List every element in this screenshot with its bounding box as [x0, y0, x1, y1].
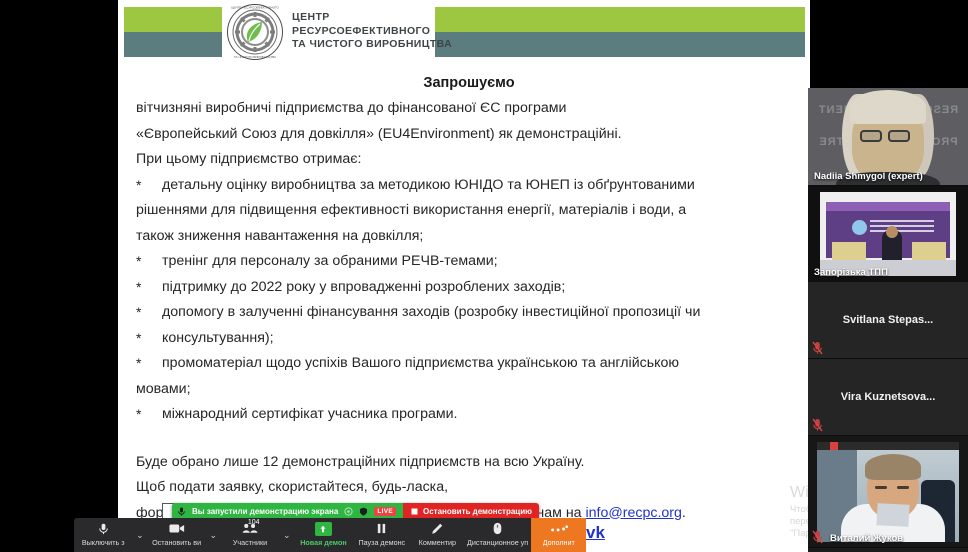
slide-title: Запрошуємо [136, 72, 802, 94]
bullet-text: промоматеріал щодо успіхів Вашого підпри… [162, 355, 679, 371]
bullet-marker: * [136, 351, 162, 377]
stage-banner-text [870, 220, 934, 234]
microphone-icon [98, 521, 109, 536]
toolbar-label-annotate: Комментир [419, 538, 456, 547]
participant-tile[interactable]: Vira Kuznetsova... [808, 359, 968, 436]
participants-count-badge: 104 [248, 519, 260, 526]
chevron-up-icon-video[interactable]: ⌄ [206, 518, 221, 552]
avatar-hair-top [850, 90, 926, 124]
participant-tile[interactable]: RESOURCE EFFICIENT AND CLEANER PRODUCTIO… [808, 88, 968, 186]
microphone-muted-icon [812, 341, 823, 355]
bullet-item: *консультування); [136, 326, 802, 352]
brand-line-1: ЦЕНТР [292, 11, 330, 23]
slide-paragraph: При цьому підприємство отримає: [136, 147, 802, 173]
bullet-marker: * [136, 402, 162, 428]
bullet-text: детальну оцінку виробництва за методикою… [162, 177, 695, 193]
closing-line: Щоб подати заявку, скористайтеся, будь-л… [136, 475, 802, 501]
tile-top-bar [817, 442, 959, 450]
stage-speaker-face [886, 226, 898, 238]
bullet-text: допомогу в залученні фінансування заході… [162, 304, 700, 320]
microphone-muted-icon [812, 418, 823, 432]
bullet-item: *підтримку до 2022 року у впровадженні р… [136, 275, 802, 301]
slide-paragraph: «Європейський Союз для довкілля» (EU4Env… [136, 122, 802, 148]
closing-line: Буде обрано лише 12 демонстраційних підп… [136, 450, 802, 476]
participant-tile[interactable]: Запорізька ТПП [808, 186, 968, 282]
toolbar-button-remote-control[interactable]: Дистанционное уп [464, 518, 532, 552]
toolbar-label-more: Дополнит [543, 538, 575, 547]
avatar-eye-left [875, 486, 887, 489]
toolbar-label-pause-share: Пауза демонс [358, 538, 405, 547]
bullet-text: тренінг для персоналу за обраними РЕЧВ-т… [162, 253, 498, 269]
zoom-meeting-window: ЦЕНТР РЕСУРСОЕФЕКТИВНОГО ТА ЧИСТОГО ВИРО… [0, 0, 968, 552]
avatar-eye-right [897, 486, 909, 489]
participant-tile[interactable]: Виталий Жуков [808, 436, 968, 548]
stop-share-label: Остановить демонстрацию [423, 507, 532, 516]
toolbar-label-participants: Участники [233, 538, 267, 547]
participant-name: Vira Kuznetsova... [808, 359, 968, 435]
brand-line-3: ТА ЧИСТОГО ВИРОБНИЦТВА [292, 38, 452, 50]
brand-bar-green [124, 7, 222, 32]
spacer [136, 428, 802, 450]
svg-text:ТА ЧИСТОГО ВИРОБНИЦТВА: ТА ЧИСТОГО ВИРОБНИЦТВА [234, 55, 276, 59]
toolbar-button-more[interactable]: Дополнит [531, 518, 586, 552]
recording-indicator-icon [830, 442, 838, 450]
avatar-glasses-right [888, 130, 910, 142]
brand-line-2: РЕСУРСОЕФЕКТИВНОГО [292, 25, 430, 37]
meeting-toolbar: Выключить з ⌄ Остановить ви ⌄ [74, 518, 586, 552]
pause-icon [376, 521, 387, 536]
form-suffix: . [682, 505, 686, 521]
gear-leaf-emblem-icon: ЦЕНТР РЕСУРСОЕФЕКТИВНОГО ТА ЧИСТОГО ВИРО… [226, 3, 284, 61]
bullet-marker: * [136, 249, 162, 275]
shield-icon[interactable] [359, 507, 368, 516]
participant-tile[interactable]: Svitlana Stepas... [808, 282, 968, 359]
bullet-item: *допомогу в залученні фінансування заход… [136, 300, 802, 326]
bullet-continuation: також зниження навантаження на довкілля; [136, 224, 802, 250]
bullet-continuation: рішеннями для підвищення ефективності ви… [136, 198, 802, 224]
bullet-item: *міжнародний сертифікат учасника програм… [136, 402, 802, 428]
share-screen-icon [315, 521, 332, 536]
participant-video-strip: RESOURCE EFFICIENT AND CLEANER PRODUCTIO… [808, 88, 968, 552]
bullet-item: *детальну оцінку виробництва за методико… [136, 173, 802, 199]
toolbar-button-participants[interactable]: 104 Участники [221, 518, 279, 552]
brand-wordmark: ЦЕНТРРЕСУРСОЕФЕКТИВНОГОТА ЧИСТОГО ВИРОБН… [292, 11, 452, 52]
share-status-text: Вы запустили демонстрацию экрана [192, 507, 338, 516]
microphone-icon [177, 507, 186, 516]
brand-bar-left [124, 7, 222, 57]
participant-name: Запорізька ТПП [814, 267, 888, 278]
video-camera-icon [169, 521, 185, 536]
ellipsis-icon [549, 521, 569, 536]
avatar-collar [876, 503, 909, 527]
participant-name: Svitlana Stepas... [808, 282, 968, 358]
remote-control-icon [493, 521, 502, 536]
shared-screen-slide: ЦЕНТР РЕСУРСОЕФЕКТИВНОГО ТА ЧИСТОГО ВИРО… [118, 0, 810, 552]
toolbar-button-pause-share[interactable]: Пауза демонс [353, 518, 411, 552]
participant-name: Виталий Жуков [830, 533, 903, 544]
live-badge: LIVE [374, 507, 396, 516]
chevron-up-icon-audio[interactable]: ⌄ [132, 518, 147, 552]
sound-toggle-icon[interactable] [344, 507, 353, 516]
toolbar-button-annotate[interactable]: Комментир [411, 518, 464, 552]
bullet-item: *тренінг для персоналу за обраними РЕЧВ-… [136, 249, 802, 275]
microphone-muted-icon [812, 530, 823, 544]
bullet-marker: * [136, 275, 162, 301]
toolbar-label-mute: Выключить з [82, 538, 125, 547]
avatar-glasses-left [860, 130, 882, 142]
toolbar-button-stop-video[interactable]: Остановить ви [147, 518, 205, 552]
brand-bar-green [435, 7, 805, 32]
slide-paragraph: вітчизняні виробничі підприємства до фін… [136, 96, 802, 122]
brand-bar-teal [435, 32, 805, 57]
chevron-up-icon-participants[interactable]: ⌄ [279, 518, 294, 552]
bullet-text: консультування); [162, 330, 274, 346]
pencil-icon [431, 521, 443, 536]
bullet-text: підтримку до 2022 року у впровадженні ро… [162, 279, 565, 295]
bullet-continuation: мовами; [136, 377, 802, 403]
toolbar-label-new-share: Новая демон [300, 538, 347, 547]
toolbar-button-new-share[interactable]: Новая демон [294, 518, 352, 552]
bullet-marker: * [136, 300, 162, 326]
toolbar-label-remote-control: Дистанционное уп [467, 538, 528, 547]
video-background [817, 442, 959, 542]
bullet-text: міжнародний сертифікат учасника програми… [162, 406, 457, 422]
avatar-hair [865, 454, 921, 480]
bullet-marker: * [136, 326, 162, 352]
toolbar-button-mute[interactable]: Выключить з [74, 518, 132, 552]
toolbar-label-stop-video: Остановить ви [152, 538, 201, 547]
bullet-marker: * [136, 173, 162, 199]
bullet-item: *промоматеріал щодо успіхів Вашого підпр… [136, 351, 802, 377]
stage-banner-top-band [826, 202, 950, 211]
brand-bar-right [435, 7, 805, 57]
slide-brand-header: ЦЕНТР РЕСУРСОЕФЕКТИВНОГО ТА ЧИСТОГО ВИРО… [118, 0, 810, 66]
contact-email-link[interactable]: info@recpc.org [586, 505, 682, 521]
participant-name: Nadiia Shmygol (expert) [814, 171, 923, 182]
vk-link[interactable]: vk [586, 523, 605, 543]
stage-logo [852, 220, 867, 235]
svg-text:ЦЕНТР РЕСУРСОЕФЕКТИВНОГО: ЦЕНТР РЕСУРСОЕФЕКТИВНОГО [231, 6, 279, 10]
brand-bar-teal [124, 32, 222, 57]
stop-square-icon [410, 507, 419, 516]
slide-body: Запрошуємо вітчизняні виробничі підприєм… [118, 72, 810, 552]
